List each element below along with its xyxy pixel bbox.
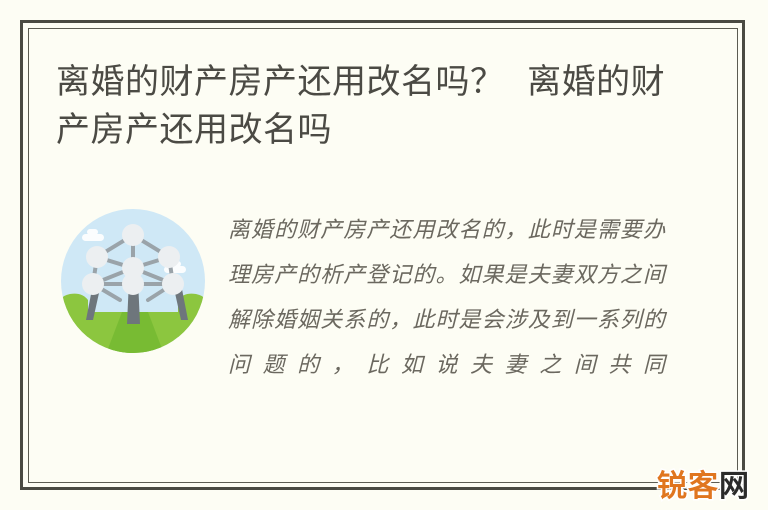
watermark-dark-text: 网	[719, 469, 750, 504]
article-content: 离婚的财产房产还用改名的，此时是需要办理房产的析产登记的。如果是夫妻双方之间解除…	[56, 200, 676, 465]
article-title: 离婚的财产房产还用改名吗？ 离婚的财产房产还用改名吗	[56, 58, 676, 154]
article-body: 离婚的财产房产还用改名的，此时是需要办理房产的析产登记的。如果是夫妻双方之间解除…	[228, 208, 666, 388]
site-watermark: 锐客网	[657, 472, 750, 502]
watermark-orange-text: 锐客	[657, 469, 719, 504]
page-root: 离婚的财产房产还用改名吗？ 离婚的财产房产还用改名吗	[0, 0, 768, 510]
atomium-illustration	[60, 208, 206, 354]
atomium-icon	[60, 208, 206, 354]
